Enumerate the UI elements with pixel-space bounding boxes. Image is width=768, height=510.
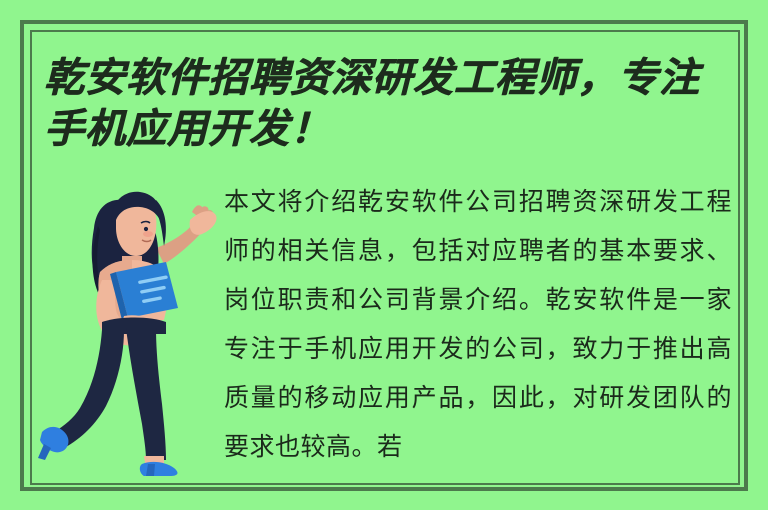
back-leg-shape bbox=[54, 330, 124, 448]
page-title: 乾安软件招聘资深研发工程师，专注手机应用开发！ bbox=[44, 52, 734, 154]
poster-canvas: 乾安软件招聘资深研发工程师，专注手机应用开发！ bbox=[0, 0, 768, 510]
front-leg-shape bbox=[126, 328, 166, 460]
front-shoe bbox=[140, 462, 178, 476]
body-paragraph: 本文将介绍乾安软件公司招聘资深研发工程师的相关信息，包括对应聘者的基本要求、岗位… bbox=[224, 178, 732, 478]
back-shoe bbox=[38, 427, 68, 460]
walking-woman-illustration bbox=[38, 176, 224, 476]
